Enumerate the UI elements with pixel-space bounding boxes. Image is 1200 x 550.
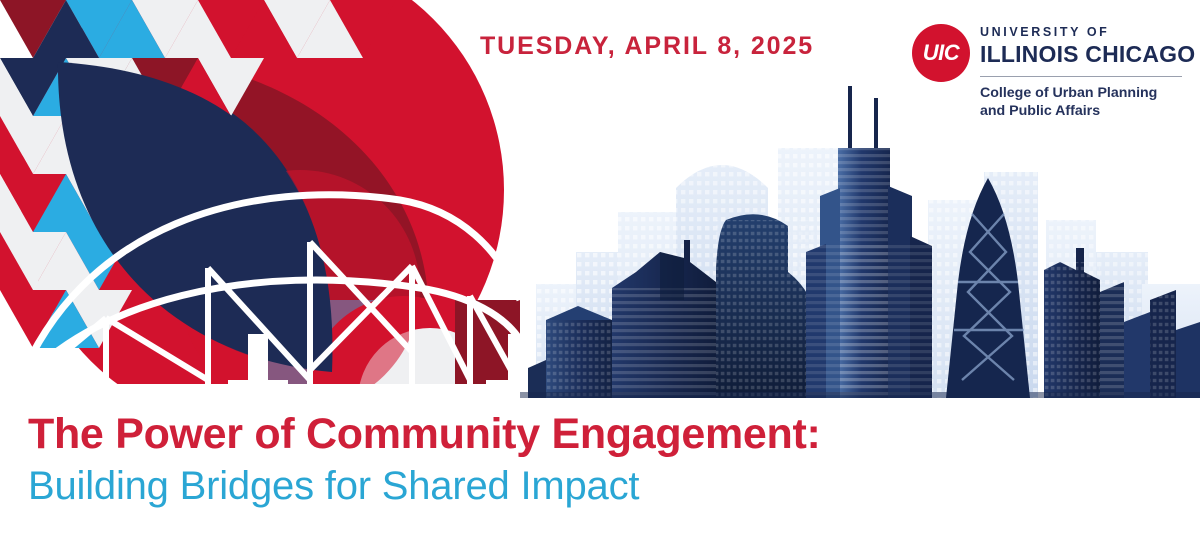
uic-mark-text: UIC — [912, 24, 970, 82]
event-date: TUESDAY, APRIL 8, 2025 — [480, 32, 814, 61]
event-subtitle: Building Bridges for Shared Impact — [28, 464, 1168, 508]
logo-divider — [980, 76, 1182, 77]
uic-logo-lockup: UIC UNIVERSITY OF ILLINOIS CHICAGO Colle… — [912, 24, 1182, 132]
bridge-piers — [10, 334, 248, 398]
uic-roundel-icon: UIC — [912, 24, 970, 82]
logo-wordmark: UNIVERSITY OF ILLINOIS CHICAGO College o… — [980, 26, 1182, 120]
logo-unit-name: College of Urban Planning and Public Aff… — [980, 84, 1182, 120]
logo-line-university: UNIVERSITY OF — [980, 26, 1182, 40]
event-banner: TUESDAY, APRIL 8, 2025 UIC UNIVERSITY OF… — [0, 0, 1200, 550]
logo-unit-line-1: College of Urban Planning — [980, 84, 1182, 102]
event-title: The Power of Community Engagement: — [28, 412, 1168, 458]
headline-block: The Power of Community Engagement: Build… — [28, 412, 1168, 508]
logo-unit-line-2: and Public Affairs — [980, 102, 1182, 120]
logo-line-illinois-chicago: ILLINOIS CHICAGO — [980, 42, 1182, 68]
